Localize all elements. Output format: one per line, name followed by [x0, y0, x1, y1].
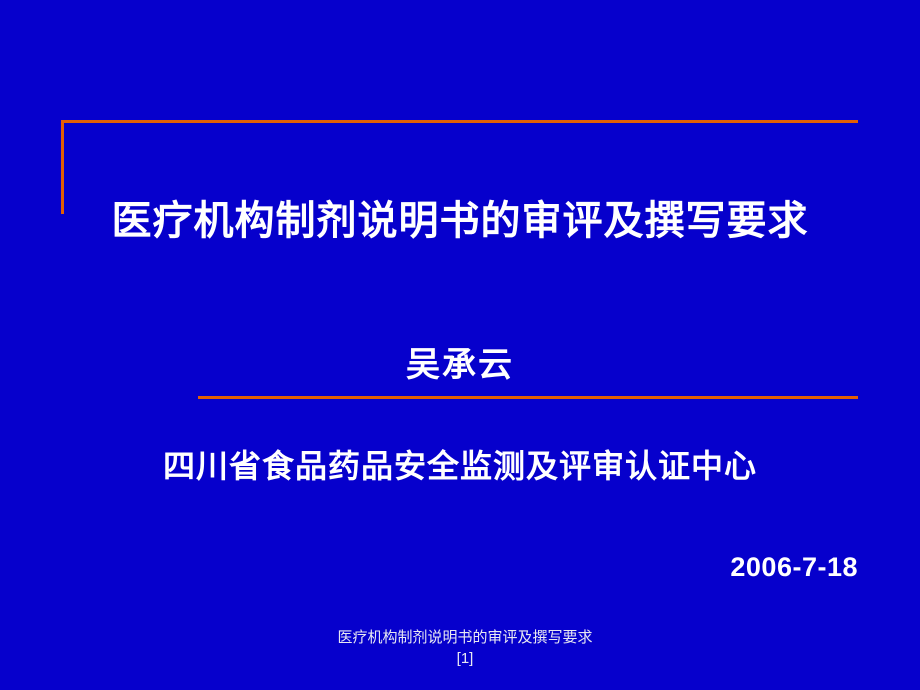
- footer-title: 医疗机构制剂说明书的审评及撰写要求: [0, 628, 920, 648]
- accent-rule-author-underline: [198, 396, 858, 399]
- slide-organization: 四川省食品药品安全监测及评审认证中心: [0, 447, 920, 485]
- slide-author: 吴承云: [0, 345, 920, 386]
- slide-date: 2006-7-18: [730, 552, 858, 583]
- slide-title: 医疗机构制剂说明书的审评及撰写要求: [0, 198, 920, 244]
- footer-page-number: [1]: [0, 649, 920, 669]
- slide-canvas: 医疗机构制剂说明书的审评及撰写要求 吴承云 四川省食品药品安全监测及评审认证中心…: [0, 0, 920, 690]
- accent-rule-top: [61, 120, 858, 123]
